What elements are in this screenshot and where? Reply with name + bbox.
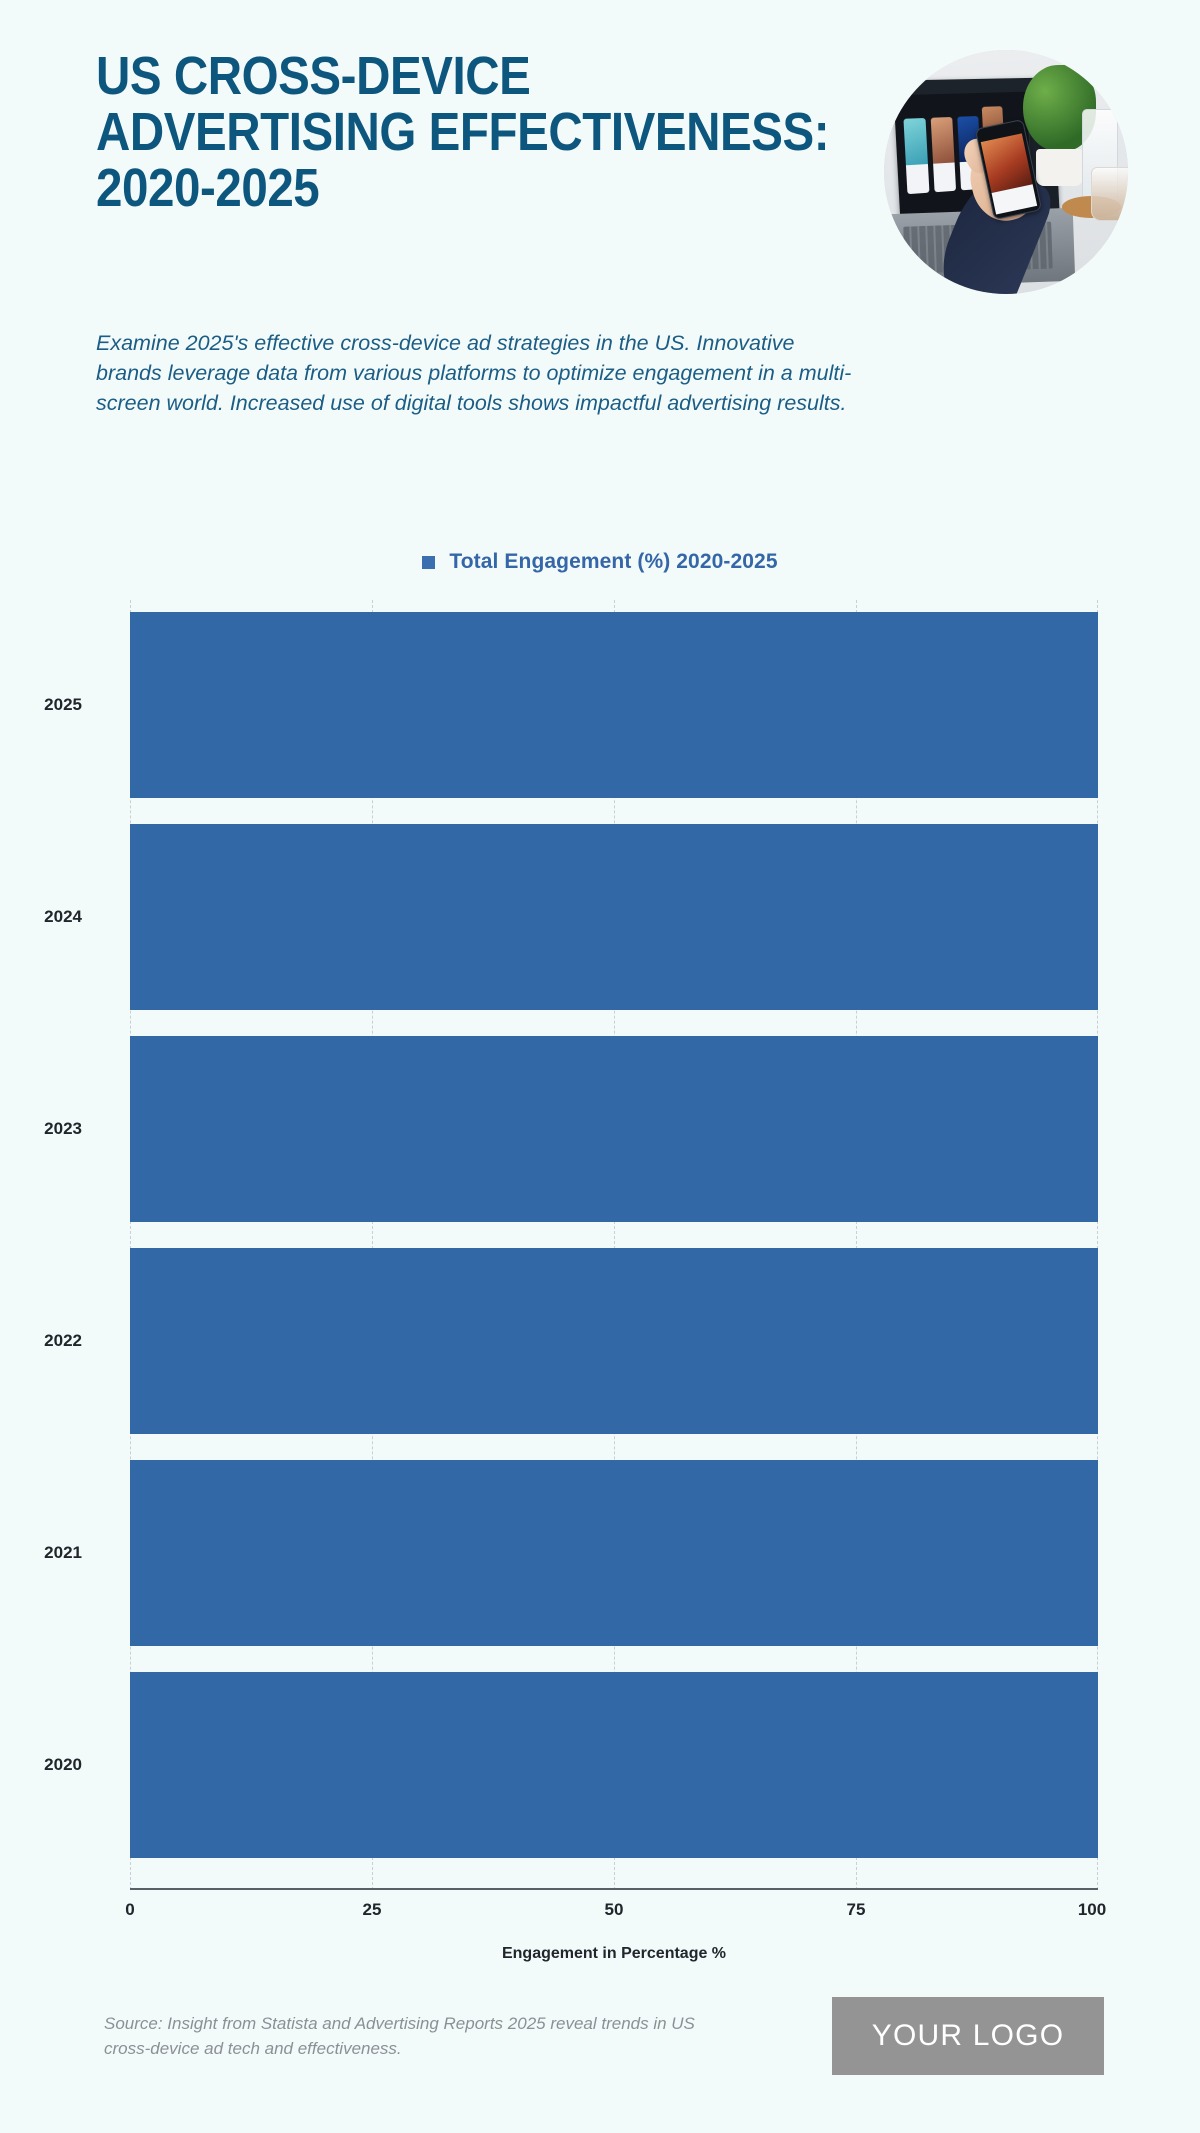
legend-item-total-engagement: Total Engagement (%) 2020-2025 xyxy=(422,550,777,574)
bar-2023 xyxy=(130,1036,1098,1222)
y-tick-2024: 2024 xyxy=(0,907,82,927)
logo-placeholder: YOUR LOGO xyxy=(832,1997,1104,2075)
legend-label: Total Engagement (%) 2020-2025 xyxy=(449,550,777,574)
x-tick-100: 100 xyxy=(1078,1900,1106,1920)
logo-text: YOUR LOGO xyxy=(872,2019,1065,2053)
y-tick-2025: 2025 xyxy=(0,695,82,715)
bar-row xyxy=(130,1672,1098,1858)
y-tick-2020: 2020 xyxy=(0,1755,82,1775)
x-axis-title: Engagement in Percentage % xyxy=(130,1945,1098,1963)
bar-2025 xyxy=(130,612,1098,798)
legend-swatch-icon xyxy=(422,556,435,569)
footer: Source: Insight from Statista and Advert… xyxy=(0,1973,1200,2133)
x-tick-75: 75 xyxy=(847,1900,866,1920)
y-tick-2021: 2021 xyxy=(0,1543,82,1563)
plot-area: 2025 2024 2023 2022 2021 2020 0 25 50 75… xyxy=(130,600,1098,1890)
page-title-line-1: US CROSS-DEVICE xyxy=(96,48,730,104)
page-subtitle: Examine 2025's effective cross-device ad… xyxy=(96,328,866,418)
x-tick-25: 25 xyxy=(363,1900,382,1920)
bar-2021 xyxy=(130,1460,1098,1646)
bar-2022 xyxy=(130,1248,1098,1434)
bar-row xyxy=(130,824,1098,1010)
page-title-line-3: 2020-2025 xyxy=(96,160,730,216)
y-tick-2022: 2022 xyxy=(0,1331,82,1351)
bar-2020 xyxy=(130,1672,1098,1858)
bar-2024 xyxy=(130,824,1098,1010)
bar-series xyxy=(130,600,1098,1890)
header-photo xyxy=(884,50,1128,294)
page-title-line-2: ADVERTISING EFFECTIVENESS: xyxy=(96,104,730,160)
bar-chart: 2025 2024 2023 2022 2021 2020 0 25 50 75… xyxy=(130,600,1098,1890)
x-tick-50: 50 xyxy=(605,1900,624,1920)
bar-row xyxy=(130,1460,1098,1646)
x-tick-0: 0 xyxy=(125,1900,134,1920)
header: US CROSS-DEVICE ADVERTISING EFFECTIVENES… xyxy=(0,0,1200,330)
bar-row xyxy=(130,1036,1098,1222)
page-title: US CROSS-DEVICE ADVERTISING EFFECTIVENES… xyxy=(96,48,730,216)
y-tick-2023: 2023 xyxy=(0,1119,82,1139)
bar-row xyxy=(130,1248,1098,1434)
chart-legend: Total Engagement (%) 2020-2025 xyxy=(0,550,1200,574)
bar-row xyxy=(130,612,1098,798)
laptop-phone-photo-illustration xyxy=(884,50,1128,294)
source-note: Source: Insight from Statista and Advert… xyxy=(104,2011,744,2061)
